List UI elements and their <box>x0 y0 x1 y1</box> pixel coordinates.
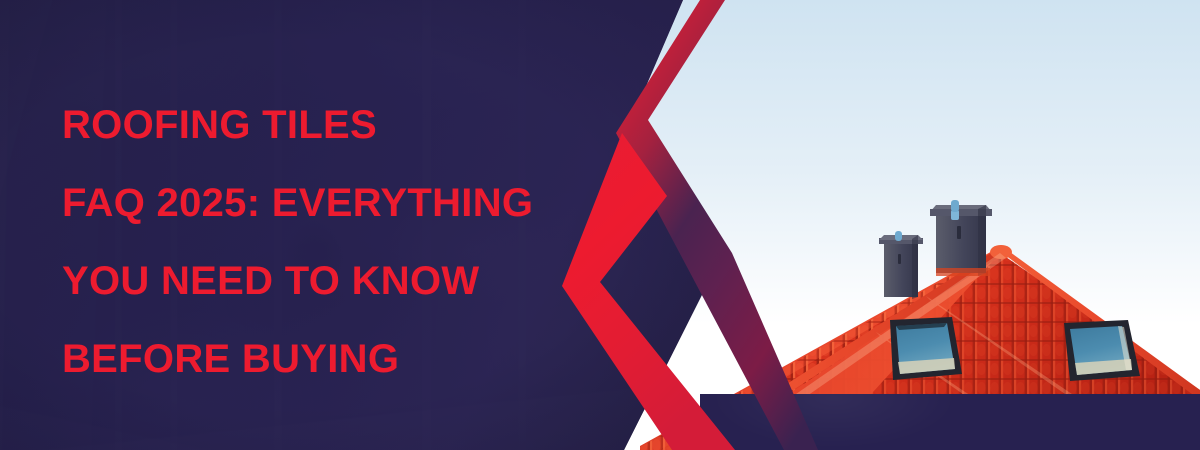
page-title: Roofing Tiles FAQ 2025: Everything You N… <box>62 86 622 398</box>
bottom-navy-band <box>700 394 1200 450</box>
banner: Roofing Tiles FAQ 2025: Everything You N… <box>0 0 1200 450</box>
skylight-right <box>1064 320 1140 381</box>
chimney-large <box>930 200 992 276</box>
chimney-small <box>879 231 923 299</box>
skylight-left <box>890 317 962 380</box>
